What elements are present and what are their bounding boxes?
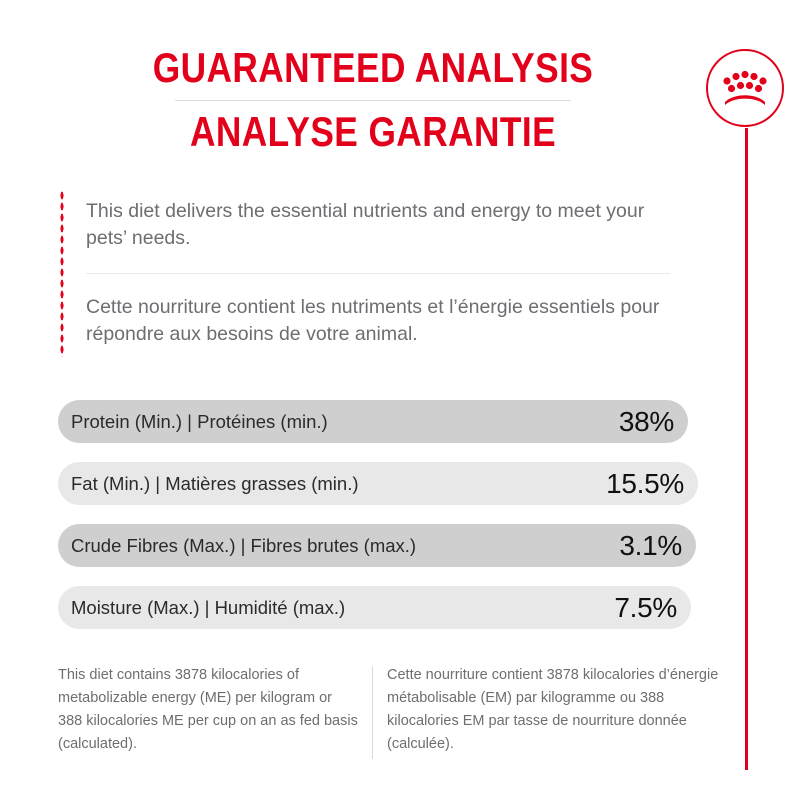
analysis-row: Protein (Min.) | Protéines (min.)38% (58, 400, 688, 443)
analysis-row: Moisture (Max.) | Humidité (max.)7.5% (58, 586, 691, 629)
analysis-row-label: Protein (Min.) | Protéines (min.) (71, 411, 328, 433)
guaranteed-analysis-panel: GUARANTEED ANALYSIS ANALYSE GARANTIE Thi… (0, 0, 800, 800)
brand-rail (745, 128, 748, 770)
title-english: GUARANTEED ANALYSIS (60, 44, 687, 92)
footer-notes: This diet contains 3878 kilocalories of … (58, 664, 730, 759)
intro-paragraph-french: Cette nourriture contient les nutriments… (86, 294, 686, 348)
page-title: GUARANTEED ANALYSIS ANALYSE GARANTIE (0, 44, 746, 156)
analysis-row-list: Protein (Min.) | Protéines (min.)38%Fat … (58, 400, 698, 648)
intro-paragraph-english: This diet delivers the essential nutrien… (86, 198, 686, 252)
analysis-row-label: Crude Fibres (Max.) | Fibres brutes (max… (71, 535, 416, 557)
intro-block: This diet delivers the essential nutrien… (86, 198, 686, 348)
analysis-row-value: 3.1% (619, 530, 682, 562)
footer-note-english: This diet contains 3878 kilocalories of … (58, 664, 372, 759)
analysis-row-value: 38% (619, 406, 674, 438)
analysis-row-value: 7.5% (614, 592, 677, 624)
intro-divider (86, 273, 670, 274)
title-divider (175, 100, 571, 101)
analysis-row-label: Fat (Min.) | Matières grasses (min.) (71, 473, 359, 495)
analysis-row-label: Moisture (Max.) | Humidité (max.) (71, 597, 345, 619)
dotted-accent-rail (60, 190, 64, 357)
analysis-row-value: 15.5% (606, 468, 684, 500)
analysis-row: Crude Fibres (Max.) | Fibres brutes (max… (58, 524, 696, 567)
title-french: ANALYSE GARANTIE (60, 108, 687, 156)
footer-note-french: Cette nourriture contient 3878 kilocalor… (373, 664, 727, 759)
analysis-row: Fat (Min.) | Matières grasses (min.)15.5… (58, 462, 698, 505)
